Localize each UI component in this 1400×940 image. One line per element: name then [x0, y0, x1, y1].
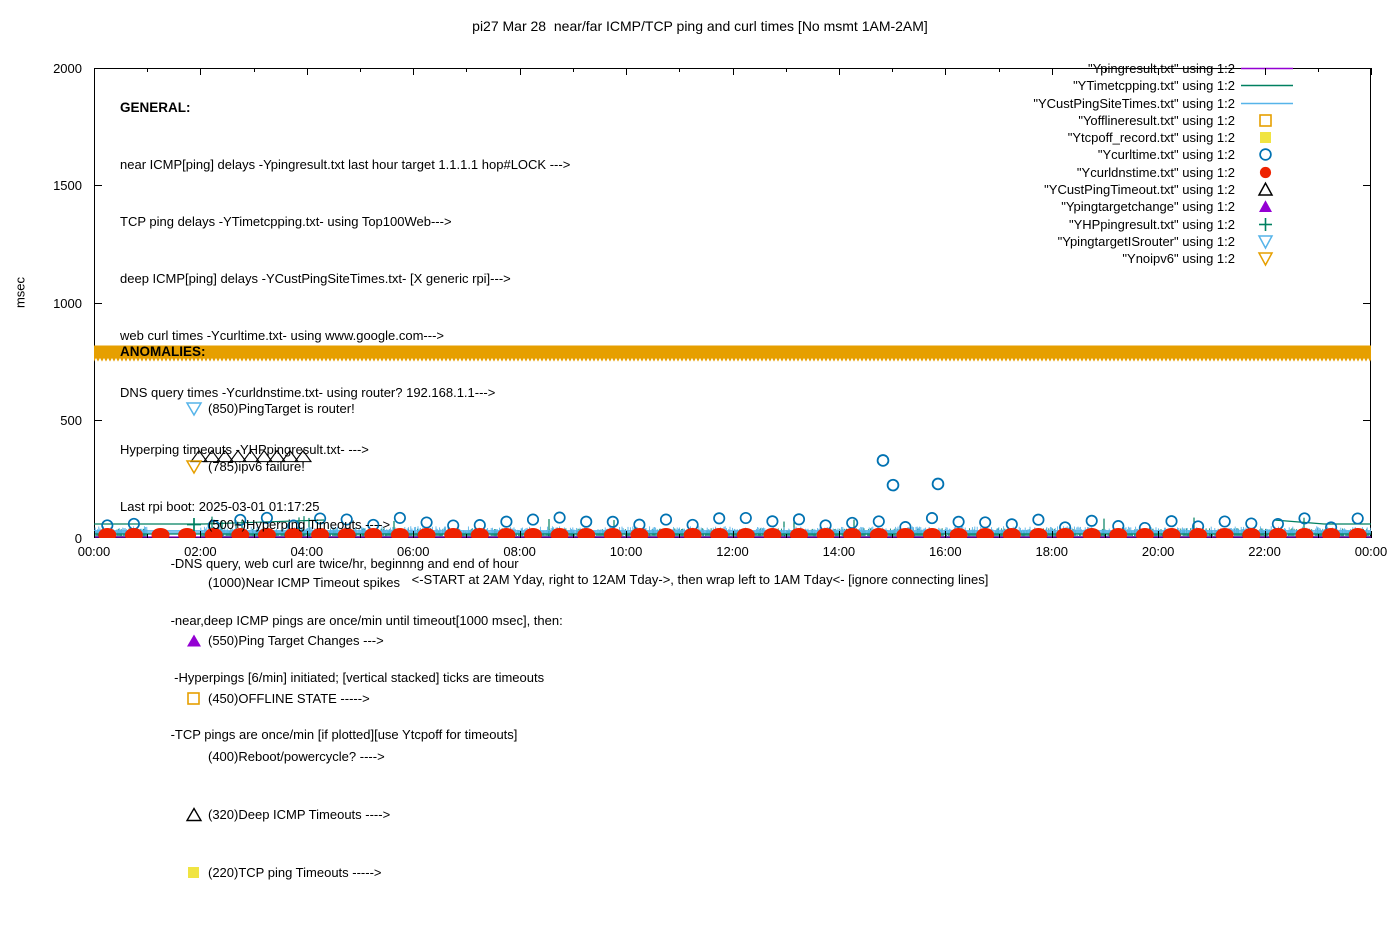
anomaly-label: (220)TCP ping Timeouts -----> [208, 863, 382, 882]
x-tick-label: 08:00 [480, 544, 560, 559]
x-tick-label: 22:00 [1225, 544, 1305, 559]
x-tick-mark-minor [786, 534, 787, 538]
legend-label: "YCustPingSiteTimes.txt" using 1:2 [1033, 96, 1235, 111]
x-tick-mark [839, 68, 840, 75]
legend-item: "Ynoipv6" using 1:2 [950, 250, 1295, 267]
anomalies-header: ANOMALIES: [120, 342, 206, 361]
triangle-up-filled-purple-icon [184, 632, 204, 649]
triangle-down-open-orange-icon [184, 458, 204, 475]
triangle-down-open-lightblue-icon [184, 400, 204, 417]
legend-item: "YTimetcpping.txt" using 1:2 [950, 77, 1295, 94]
legend-label: "Ytcpoff_record.txt" using 1:2 [1068, 130, 1235, 145]
circle-filled-red-icon [1239, 164, 1295, 181]
x-tick-mark [1158, 68, 1159, 75]
x-tick-mark [626, 68, 627, 75]
legend-item: "Ycurldnstime.txt" using 1:2 [950, 164, 1295, 181]
anomaly-label: (850)PingTarget is router! [208, 399, 355, 418]
x-tick-mark [945, 531, 946, 538]
x-tick-mark [626, 531, 627, 538]
y-tick-label: 1000 [8, 296, 82, 311]
anomaly-item: (785)ipv6 failure! [120, 457, 206, 476]
x-tick-mark-minor [999, 68, 1000, 72]
x-tick-mark [1265, 531, 1266, 538]
legend-label: "Yofflineresult.txt" using 1:2 [1078, 113, 1235, 128]
x-tick-mark [307, 531, 308, 538]
x-tick-mark [94, 68, 95, 75]
x-tick-label: 02:00 [160, 544, 240, 559]
legend-item: "Ycurltime.txt" using 1:2 [950, 146, 1295, 163]
anomaly-item: (550)Ping Target Changes ---> [120, 631, 206, 650]
x-tick-mark [520, 531, 521, 538]
anomaly-item: (400)Reboot/powercycle? ----> [120, 747, 206, 766]
x-tick-label: 00:00 [54, 544, 134, 559]
square-open-orange-icon [1239, 112, 1295, 129]
general-line: near ICMP[ping] delays -Ypingresult.txt … [120, 155, 570, 174]
anomaly-label: (450)OFFLINE STATE -----> [208, 689, 370, 708]
circle-open-blue-icon [1239, 146, 1295, 163]
legend-item: "YCustPingSiteTimes.txt" using 1:2 [950, 95, 1295, 112]
x-tick-mark-minor [466, 68, 467, 72]
square-filled-yellow-icon [184, 864, 204, 881]
x-tick-mark-minor [147, 534, 148, 538]
anomalies-block: ANOMALIES: (850)PingTarget is router! (7… [120, 303, 206, 921]
anomaly-item: (850)PingTarget is router! [120, 399, 206, 418]
x-tick-mark [945, 68, 946, 75]
plus-green-icon [1239, 216, 1295, 233]
legend-item: "Ypingresult.txt" using 1:2 [950, 60, 1295, 77]
line-lightblue-icon [1239, 95, 1295, 112]
x-tick-label: 14:00 [799, 544, 879, 559]
y-axis-label: msec [13, 263, 28, 323]
triangle-down-open-orange-icon [1239, 250, 1295, 267]
x-tick-mark-minor [254, 68, 255, 72]
legend-label: "YTimetcpping.txt" using 1:2 [1073, 78, 1235, 93]
chart-title: pi27 Mar 28 near/far ICMP/TCP ping and c… [0, 18, 1400, 34]
square-open-orange-icon [184, 690, 204, 707]
x-tick-mark-minor [573, 68, 574, 72]
triangle-up-open-black-icon [1239, 181, 1295, 198]
line-green-icon [1239, 77, 1295, 94]
x-tick-mark-minor [999, 534, 1000, 538]
x-tick-mark [520, 68, 521, 75]
x-tick-mark-minor [466, 534, 467, 538]
triangle-up-open-black-icon [184, 806, 204, 823]
x-tick-label: 10:00 [586, 544, 666, 559]
x-tick-mark-minor [892, 68, 893, 72]
x-tick-mark-minor [1318, 68, 1319, 72]
legend-item: "Yofflineresult.txt" using 1:2 [950, 112, 1295, 129]
anomaly-item: (450)OFFLINE STATE -----> [120, 689, 206, 708]
x-tick-mark [200, 531, 201, 538]
legend-label: "Ypingtargetchange" using 1:2 [1061, 199, 1235, 214]
x-tick-mark [1052, 68, 1053, 75]
general-header: GENERAL: [120, 98, 570, 117]
x-tick-mark [1371, 531, 1372, 538]
chart-root: pi27 Mar 28 near/far ICMP/TCP ping and c… [0, 0, 1400, 600]
x-tick-mark [413, 68, 414, 75]
legend-label: "YpingtargetISrouter" using 1:2 [1058, 234, 1235, 249]
legend-item: "YCustPingTimeout.txt" using 1:2 [950, 181, 1295, 198]
x-tick-mark-minor [786, 68, 787, 72]
x-tick-label: 04:00 [267, 544, 347, 559]
x-tick-label: 00:00 [1331, 544, 1400, 559]
x-axis-caption: <-START at 2AM Yday, right to 12AM Tday-… [0, 572, 1400, 587]
x-tick-mark-minor [1211, 68, 1212, 72]
anomaly-item: (220)TCP ping Timeouts -----> [120, 863, 206, 882]
x-tick-mark-minor [360, 68, 361, 72]
x-tick-label: 16:00 [905, 544, 985, 559]
x-tick-mark-minor [254, 534, 255, 538]
x-tick-mark [733, 531, 734, 538]
x-tick-label: 20:00 [1118, 544, 1198, 559]
legend-label: "Ynoipv6" using 1:2 [1122, 251, 1235, 266]
anomaly-item: (500+)Hyperping Timeouts ----> [120, 515, 206, 534]
anomaly-label: (400)Reboot/powercycle? ----> [208, 747, 385, 766]
anomaly-item: (320)Deep ICMP Timeouts ----> [120, 805, 206, 824]
legend-label: "Ypingresult.txt" using 1:2 [1088, 61, 1235, 76]
x-tick-mark-minor [573, 534, 574, 538]
legend-label: "YHPpingresult.txt" using 1:2 [1069, 217, 1235, 232]
anomaly-label: (785)ipv6 failure! [208, 457, 305, 476]
x-tick-mark [1265, 68, 1266, 75]
x-tick-mark [94, 531, 95, 538]
x-tick-mark-minor [892, 534, 893, 538]
x-tick-mark-minor [1211, 534, 1212, 538]
x-tick-mark [413, 531, 414, 538]
legend-item: "YHPpingresult.txt" using 1:2 [950, 216, 1295, 233]
legend-item: "Ypingtargetchange" using 1:2 [950, 198, 1295, 215]
x-tick-mark-minor [147, 68, 148, 72]
legend-label: "Ycurltime.txt" using 1:2 [1098, 147, 1235, 162]
legend-label: "Ycurldnstime.txt" using 1:2 [1077, 165, 1235, 180]
triangle-down-open-lightblue-icon [1239, 233, 1295, 250]
x-tick-label: 12:00 [693, 544, 773, 559]
y-tick-label: 1500 [8, 178, 82, 193]
x-tick-label: 18:00 [1012, 544, 1092, 559]
anomaly-label: (550)Ping Target Changes ---> [208, 631, 384, 650]
legend: "Ypingresult.txt" using 1:2 "YTimetcppin… [950, 60, 1295, 268]
x-tick-mark [1371, 68, 1372, 75]
legend-item: "YpingtargetISrouter" using 1:2 [950, 233, 1295, 250]
general-line: deep ICMP[ping] delays -YCustPingSiteTim… [120, 269, 570, 288]
x-tick-mark-minor [679, 68, 680, 72]
x-tick-mark [200, 68, 201, 75]
anomaly-label: (500+)Hyperping Timeouts ----> [208, 515, 390, 534]
y-tick-label: 2000 [8, 61, 82, 76]
x-tick-mark [1052, 531, 1053, 538]
anomaly-label: (320)Deep ICMP Timeouts ----> [208, 805, 390, 824]
general-line: TCP ping delays -YTimetcpping.txt- using… [120, 212, 570, 231]
x-tick-mark-minor [1105, 68, 1106, 72]
square-filled-yellow-icon [1239, 129, 1295, 146]
x-tick-mark-minor [360, 534, 361, 538]
x-tick-mark-minor [679, 534, 680, 538]
x-tick-label: 06:00 [373, 544, 453, 559]
x-tick-mark [733, 68, 734, 75]
x-tick-mark [1158, 531, 1159, 538]
legend-label: "YCustPingTimeout.txt" using 1:2 [1044, 182, 1235, 197]
line-purple-icon [1239, 60, 1295, 77]
x-tick-mark-minor [1105, 534, 1106, 538]
y-tick-label: 500 [8, 413, 82, 428]
x-tick-mark-minor [1318, 534, 1319, 538]
legend-item: "Ytcpoff_record.txt" using 1:2 [950, 129, 1295, 146]
x-tick-mark [839, 531, 840, 538]
x-tick-mark [307, 68, 308, 75]
triangle-up-filled-purple-icon [1239, 198, 1295, 215]
